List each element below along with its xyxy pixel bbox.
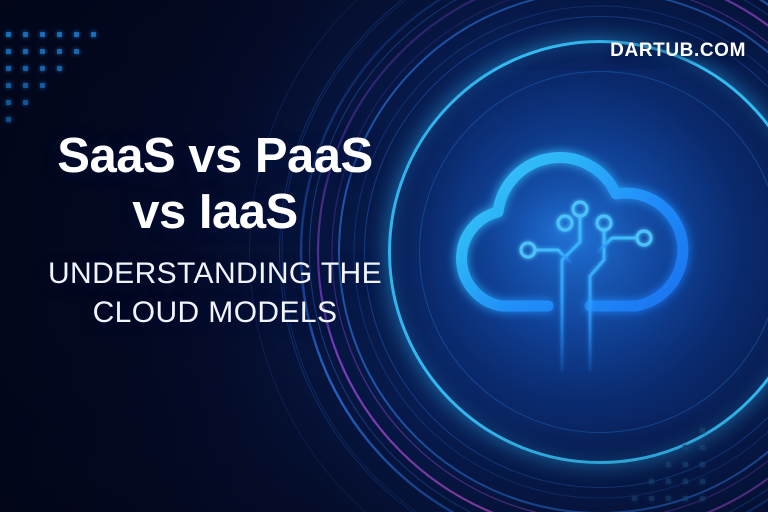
grid-dot [23,83,28,88]
grid-dot [40,66,45,71]
grid-dot [23,32,28,37]
page-subtitle: UNDERSTANDING THE CLOUD MODELS [0,254,430,332]
cloud-icon [440,120,720,390]
grid-dot [40,49,45,54]
grid-dot [74,32,79,37]
grid-dot [700,479,705,484]
grid-dot [649,479,654,484]
grid-dot [700,428,705,433]
grid-dot [6,32,11,37]
grid-dot [683,445,688,450]
subhead-line-1: UNDERSTANDING THE [48,257,382,290]
grid-dot [700,462,705,467]
grid-dot [649,496,654,501]
grid-dot [57,66,62,71]
headline-line-2: vs IaaS [132,185,297,239]
grid-dot [700,445,705,450]
grid-dot [23,49,28,54]
grid-dot [6,83,11,88]
grid-dot [683,462,688,467]
headline-line-1: SaaS vs PaaS [57,129,372,183]
grid-dot [666,496,671,501]
subhead-line-2: CLOUD MODELS [93,296,338,329]
grid-dot [57,49,62,54]
page-title: SaaS vs PaaS vs IaaS [0,128,430,240]
grid-dot [57,32,62,37]
grid-dot [6,66,11,71]
site-logo[interactable]: DARTUB.COM [610,40,746,62]
headline-block: SaaS vs PaaS vs IaaS UNDERSTANDING THE C… [0,128,430,332]
grid-dot [632,496,637,501]
grid-dot [74,49,79,54]
grid-dot [6,100,11,105]
grid-dot [683,479,688,484]
grid-dot [6,117,11,122]
grid-dot [40,83,45,88]
grid-dot [6,49,11,54]
grid-dot [700,496,705,501]
grid-dot [91,32,96,37]
grid-dot [666,462,671,467]
cloud-circuit-graphic [440,120,720,390]
grid-dot [40,32,45,37]
grid-dot [23,66,28,71]
cloud-models-banner: SaaS vs PaaS vs IaaS UNDERSTANDING THE C… [0,0,768,512]
grid-dot [683,496,688,501]
grid-dot [23,100,28,105]
grid-dot [666,479,671,484]
